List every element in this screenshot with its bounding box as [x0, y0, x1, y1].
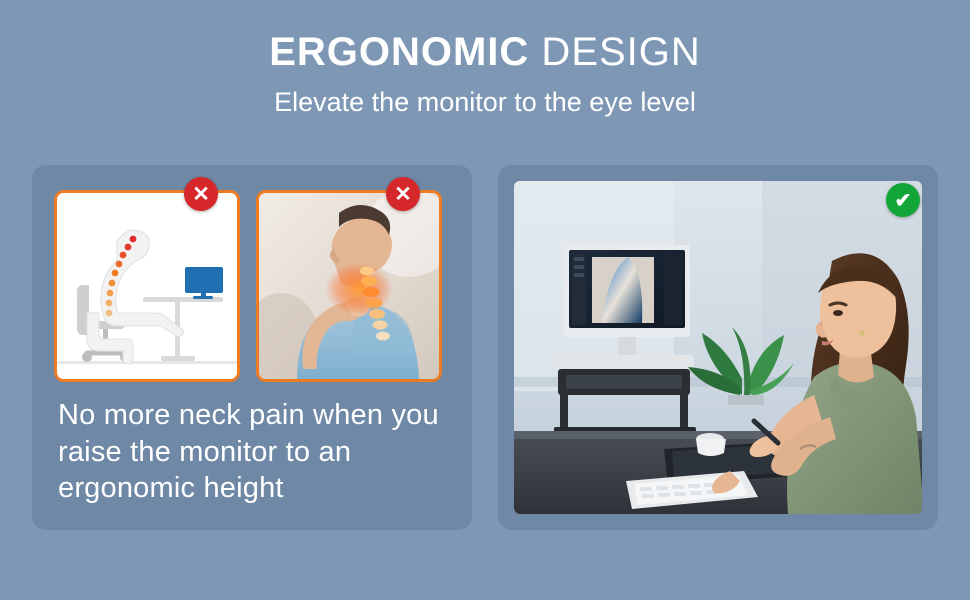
page-title: ERGONOMIC DESIGN — [0, 30, 970, 74]
page-subtitle: Elevate the monitor to the eye level — [0, 88, 970, 118]
correct-posture-photo — [514, 181, 922, 514]
check-icon: ✔ — [886, 183, 920, 217]
ergonomic-design-banner: ERGONOMIC DESIGN Elevate the monitor to … — [0, 0, 970, 600]
banner-header: ERGONOMIC DESIGN Elevate the monitor to … — [0, 30, 970, 118]
left-panel-caption: No more neck pain when you raise the mon… — [58, 397, 458, 507]
slouched-posture-illustration — [57, 193, 237, 379]
page-title-bold: ERGONOMIC — [269, 30, 529, 74]
page-title-light: DESIGN — [529, 30, 700, 74]
bad-examples-row — [54, 190, 442, 382]
cross-icon: ✕ — [386, 177, 420, 211]
posture-illustration-svg — [57, 193, 237, 379]
neck-pain-photo-card — [256, 190, 442, 382]
correct-posture-photo-svg — [514, 181, 922, 514]
cross-icon: ✕ — [184, 177, 218, 211]
neck-pain-photo — [259, 193, 439, 379]
bad-examples-panel: ✕ ✕ No more neck pain when you raise the… — [32, 165, 472, 530]
slouched-posture-illustration-card — [54, 190, 240, 382]
neck-pain-photo-svg — [259, 193, 439, 379]
good-example-panel: ✔ — [498, 165, 938, 530]
